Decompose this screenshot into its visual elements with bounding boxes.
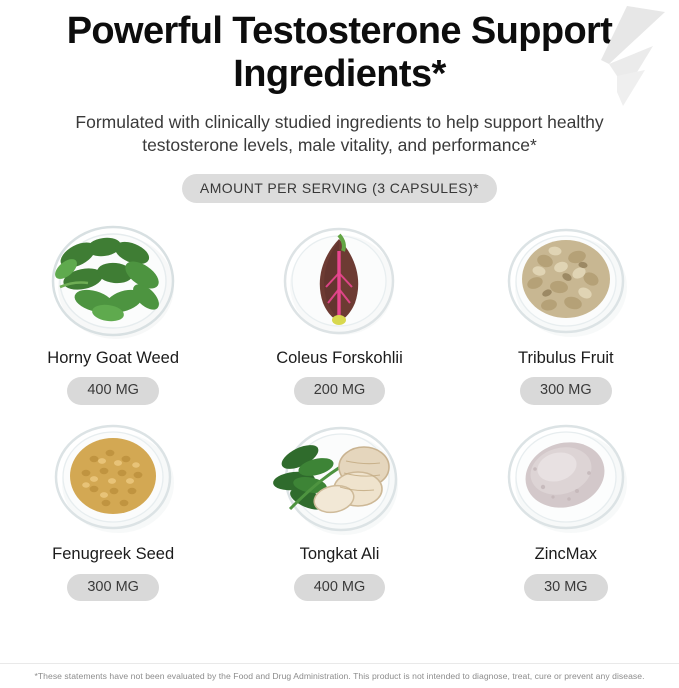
ingredient-name: Tribulus Fruit: [518, 349, 614, 369]
petri-dish-root-slices-icon: [246, 413, 432, 541]
ingredient-dose-badge: 300 MG: [520, 377, 612, 405]
petri-dish-purple-leaf-icon: [246, 217, 432, 345]
ingredient-name: ZincMax: [535, 545, 597, 565]
amount-per-serving-badge: AMOUNT PER SERVING (3 CAPSULES)*: [182, 174, 497, 203]
petri-dish-green-leaves-icon: [20, 217, 206, 345]
ingredient-card: Tribulus Fruit 300 MG: [453, 217, 679, 405]
ingredient-name: Fenugreek Seed: [52, 545, 174, 565]
ingredient-dose-badge: 400 MG: [67, 377, 159, 405]
ingredient-card: Tongkat Ali 400 MG: [226, 413, 452, 601]
ingredient-dose-badge: 300 MG: [67, 574, 159, 602]
petri-dish-powder-icon: [473, 413, 659, 541]
ingredient-card: Fenugreek Seed 300 MG: [0, 413, 226, 601]
ingredient-card: Horny Goat Weed 400 MG: [0, 217, 226, 405]
ingredient-dose-badge: 200 MG: [294, 377, 386, 405]
page-title: Powerful Testosterone Support Ingredient…: [60, 10, 620, 95]
ingredient-grid: Horny Goat Weed 400 MG Coleus Forskohlii…: [0, 217, 679, 602]
ingredient-dose-badge: 400 MG: [294, 574, 386, 602]
ingredient-name: Coleus Forskohlii: [276, 349, 403, 369]
page-subtitle: Formulated with clinically studied ingre…: [55, 111, 625, 158]
petri-dish-dried-granules-icon: [473, 217, 659, 345]
page-header: Powerful Testosterone Support Ingredient…: [0, 0, 679, 203]
petri-dish-golden-seeds-icon: [20, 413, 206, 541]
ingredient-card: Coleus Forskohlii 200 MG: [226, 217, 452, 405]
ingredient-dose-badge: 30 MG: [524, 574, 608, 602]
disclaimer-text: *These statements have not been evaluate…: [34, 671, 644, 681]
ingredient-name: Tongkat Ali: [300, 545, 380, 565]
disclaimer-bar: *These statements have not been evaluate…: [0, 663, 679, 688]
ingredient-card: ZincMax 30 MG: [453, 413, 679, 601]
ingredient-name: Horny Goat Weed: [47, 349, 179, 369]
serving-badge-row: AMOUNT PER SERVING (3 CAPSULES)*: [0, 174, 679, 203]
